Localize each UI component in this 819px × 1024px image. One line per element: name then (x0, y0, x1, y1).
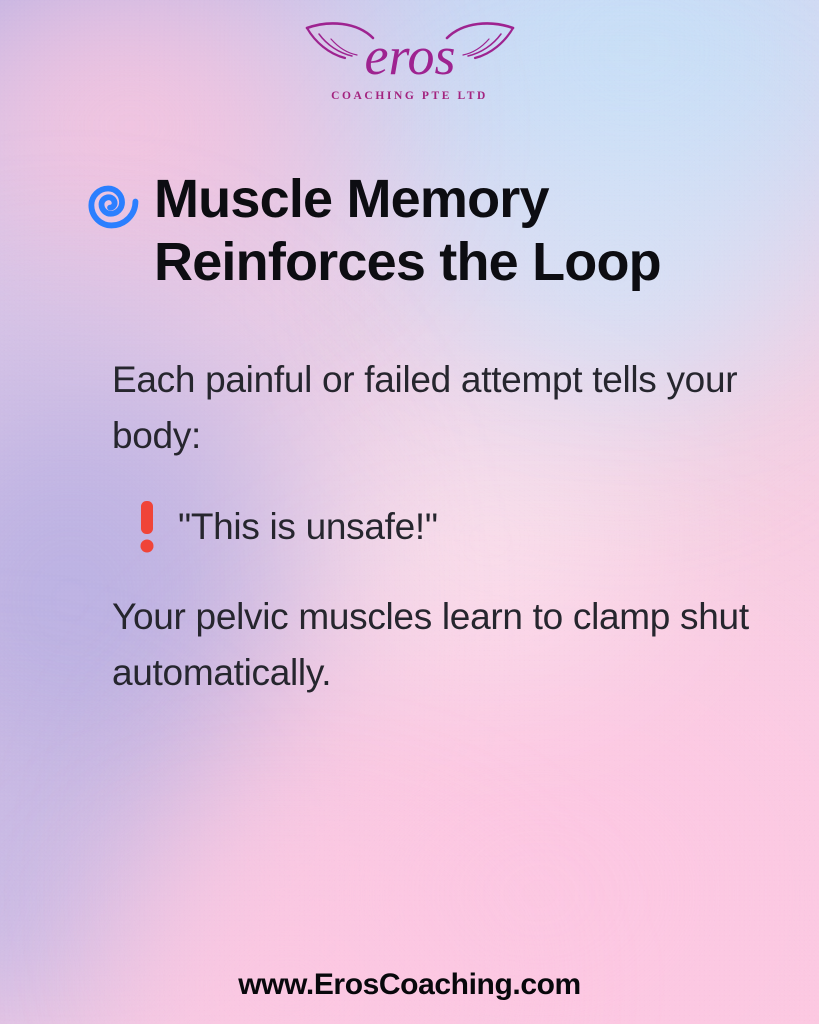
unsafe-callout: "This is unsafe!" (134, 499, 772, 555)
red-exclamation-icon (134, 499, 160, 555)
logo-tagline: COACHING PTE LTD (331, 90, 488, 102)
eros-wordmark-with-wings-icon: eros (295, 12, 525, 88)
poster-canvas: eros COACHING PTE LTD Muscle Memory Rein… (0, 0, 819, 1024)
body-paragraph-2: Your pelvic muscles learn to clamp shut … (112, 589, 772, 700)
page-title: Muscle Memory Reinforces the Loop (76, 168, 776, 293)
body-paragraph-1: Each painful or failed attempt tells you… (112, 352, 772, 463)
headline-line-1: Muscle Memory (154, 169, 549, 229)
poster-content: eros COACHING PTE LTD Muscle Memory Rein… (0, 0, 819, 1024)
body-copy-block: Each painful or failed attempt tells you… (112, 352, 772, 700)
svg-text:eros: eros (364, 26, 455, 86)
headline-line-2: Reinforces the Loop (154, 232, 661, 292)
brand-logo: eros COACHING PTE LTD (0, 12, 819, 102)
cyclone-spiral-icon (80, 172, 148, 234)
footer-website-url[interactable]: www.ErosCoaching.com (0, 968, 819, 1002)
headline-block: Muscle Memory Reinforces the Loop (76, 168, 776, 293)
callout-text: "This is unsafe!" (178, 503, 438, 551)
